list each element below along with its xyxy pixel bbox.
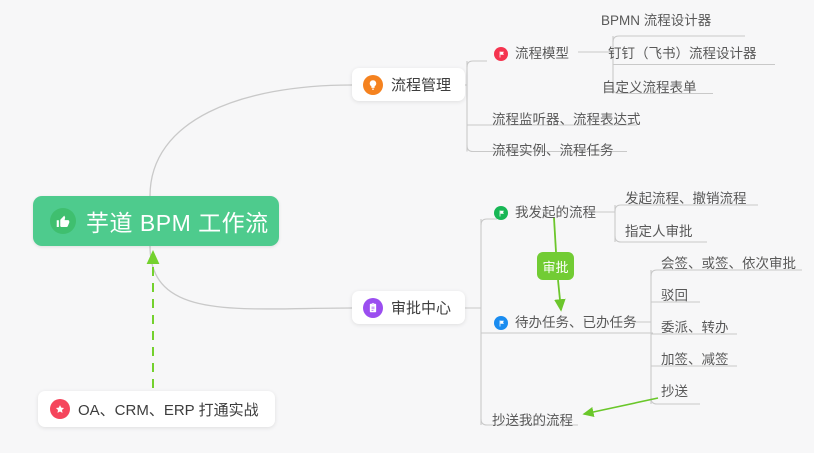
lightbulb-icon bbox=[363, 75, 383, 95]
topic-label: 流程实例、流程任务 bbox=[492, 144, 614, 158]
flag-icon bbox=[494, 316, 508, 330]
topic-cc-to-me-process[interactable]: 抄送我的流程 bbox=[492, 411, 573, 431]
topic-label: 我发起的流程 bbox=[515, 206, 596, 220]
topic-my-initiated-process[interactable]: 我发起的流程 bbox=[494, 203, 596, 223]
topic-label: 自定义流程表单 bbox=[602, 81, 697, 95]
branch-node-process-management[interactable]: 流程管理 bbox=[352, 68, 465, 101]
topic-label: BPMN 流程设计器 bbox=[601, 14, 711, 28]
topic-label: 抄送我的流程 bbox=[492, 414, 573, 428]
topic-assigned-approval[interactable]: 指定人审批 bbox=[625, 222, 693, 242]
annotation-badge-approve[interactable]: 审批 bbox=[537, 252, 574, 280]
branch-label: 审批中心 bbox=[391, 297, 451, 318]
topic-bpmn-designer[interactable]: BPMN 流程设计器 bbox=[601, 11, 711, 31]
topic-label: 加签、减签 bbox=[661, 353, 729, 367]
branch-label: 流程管理 bbox=[391, 74, 451, 95]
callout-label: OA、CRM、ERP 打通实战 bbox=[78, 399, 259, 420]
topic-todo-done-tasks[interactable]: 待办任务、已办任务 bbox=[494, 313, 637, 333]
topic-process-model[interactable]: 流程模型 bbox=[494, 44, 569, 64]
topic-countersign[interactable]: 会签、或签、依次审批 bbox=[661, 254, 796, 274]
topic-label: 指定人审批 bbox=[625, 225, 693, 239]
topic-label: 发起流程、撤销流程 bbox=[625, 192, 747, 206]
clipboard-icon bbox=[363, 298, 383, 318]
root-label: 芋道 BPM 工作流 bbox=[86, 204, 269, 238]
topic-delegate-transfer[interactable]: 委派、转办 bbox=[661, 318, 729, 338]
star-icon bbox=[50, 399, 70, 419]
topic-label: 驳回 bbox=[661, 289, 688, 303]
topic-label: 抄送 bbox=[661, 385, 688, 399]
flag-icon bbox=[494, 47, 508, 61]
topic-dingtalk-designer[interactable]: 钉钉（飞书）流程设计器 bbox=[608, 44, 757, 64]
flag-icon bbox=[494, 206, 508, 220]
topic-label: 会签、或签、依次审批 bbox=[661, 257, 796, 271]
topic-process-instance[interactable]: 流程实例、流程任务 bbox=[492, 141, 614, 161]
topic-label: 委派、转办 bbox=[661, 321, 729, 335]
badge-label: 审批 bbox=[542, 257, 568, 276]
branch-node-approval-center[interactable]: 审批中心 bbox=[352, 291, 465, 324]
topic-process-listener[interactable]: 流程监听器、流程表达式 bbox=[492, 110, 641, 130]
topic-label: 待办任务、已办任务 bbox=[515, 316, 637, 330]
topic-label: 钉钉（飞书）流程设计器 bbox=[608, 47, 757, 61]
topic-label: 流程监听器、流程表达式 bbox=[492, 113, 641, 127]
topic-reject[interactable]: 驳回 bbox=[661, 286, 688, 306]
callout-node-integration[interactable]: OA、CRM、ERP 打通实战 bbox=[38, 391, 275, 427]
topic-label: 流程模型 bbox=[515, 47, 569, 61]
topic-add-remove-sign[interactable]: 加签、减签 bbox=[661, 350, 729, 370]
topic-custom-form[interactable]: 自定义流程表单 bbox=[602, 78, 697, 98]
topic-cc[interactable]: 抄送 bbox=[661, 382, 688, 402]
root-node[interactable]: 芋道 BPM 工作流 bbox=[33, 196, 279, 246]
mindmap-canvas: 芋道 BPM 工作流 流程管理 审批中心 OA、CRM、ERP 打通实战 bbox=[0, 0, 814, 453]
topic-start-cancel-process[interactable]: 发起流程、撤销流程 bbox=[625, 189, 747, 209]
thumbs-up-icon bbox=[50, 208, 76, 234]
